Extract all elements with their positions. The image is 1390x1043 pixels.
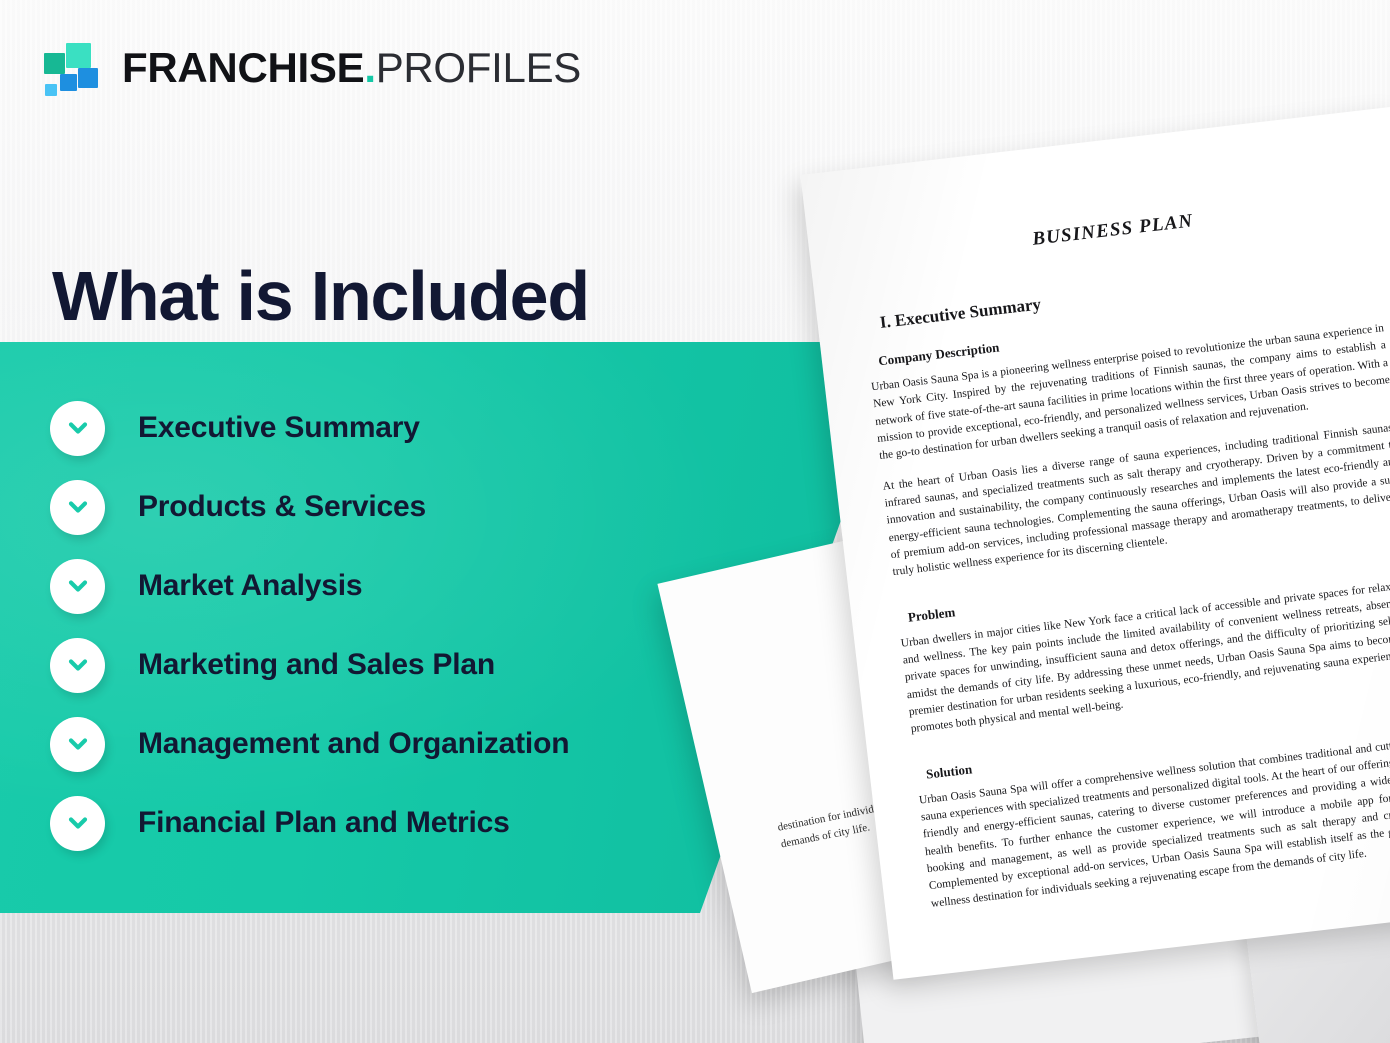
list-item-label: Market Analysis [138, 569, 362, 603]
list-item[interactable]: Products & Services [50, 477, 750, 537]
slide-canvas: FRANCHISE.PROFILES What is Included Exec… [0, 0, 1390, 1043]
document-page-front: BUSINESS PLAN I. Executive Summary Compa… [800, 106, 1390, 980]
chevron-down-icon[interactable] [50, 717, 105, 772]
brand-word-dot: . [364, 47, 375, 89]
chevron-down-icon[interactable] [50, 796, 105, 851]
list-item-label: Marketing and Sales Plan [138, 648, 495, 682]
included-sections-list: Executive Summary Products & Services Ma… [50, 398, 750, 872]
document-section-heading: I. Executive Summary [863, 256, 1378, 335]
chevron-down-icon[interactable] [50, 559, 105, 614]
list-item[interactable]: Market Analysis [50, 556, 750, 616]
document-content: BUSINESS PLAN I. Executive Summary Compa… [855, 190, 1390, 926]
list-item[interactable]: Management and Organization [50, 714, 750, 774]
brand-word-thin: PROFILES [376, 47, 581, 89]
list-item[interactable]: Marketing and Sales Plan [50, 635, 750, 695]
list-item[interactable]: Financial Plan and Metrics [50, 793, 750, 853]
brand-word-bold: FRANCHISE [122, 47, 364, 89]
chevron-down-icon[interactable] [50, 480, 105, 535]
list-item-label: Executive Summary [138, 411, 420, 445]
page-title: What is Included [52, 260, 589, 334]
list-item-label: Management and Organization [138, 727, 569, 761]
chevron-down-icon[interactable] [50, 638, 105, 693]
brand-wordmark: FRANCHISE.PROFILES [122, 47, 581, 89]
list-item-label: Financial Plan and Metrics [138, 806, 510, 840]
brand-logo[interactable]: FRANCHISE.PROFILES [44, 38, 581, 98]
list-item-label: Products & Services [138, 490, 426, 524]
business-plan-document-stack: destination for individuals seeking a re… [690, 120, 1390, 1043]
chevron-down-icon[interactable] [50, 401, 105, 456]
document-title: BUSINESS PLAN [855, 190, 1370, 271]
franchise-profiles-logo-squares-icon [44, 41, 106, 95]
list-item[interactable]: Executive Summary [50, 398, 750, 458]
